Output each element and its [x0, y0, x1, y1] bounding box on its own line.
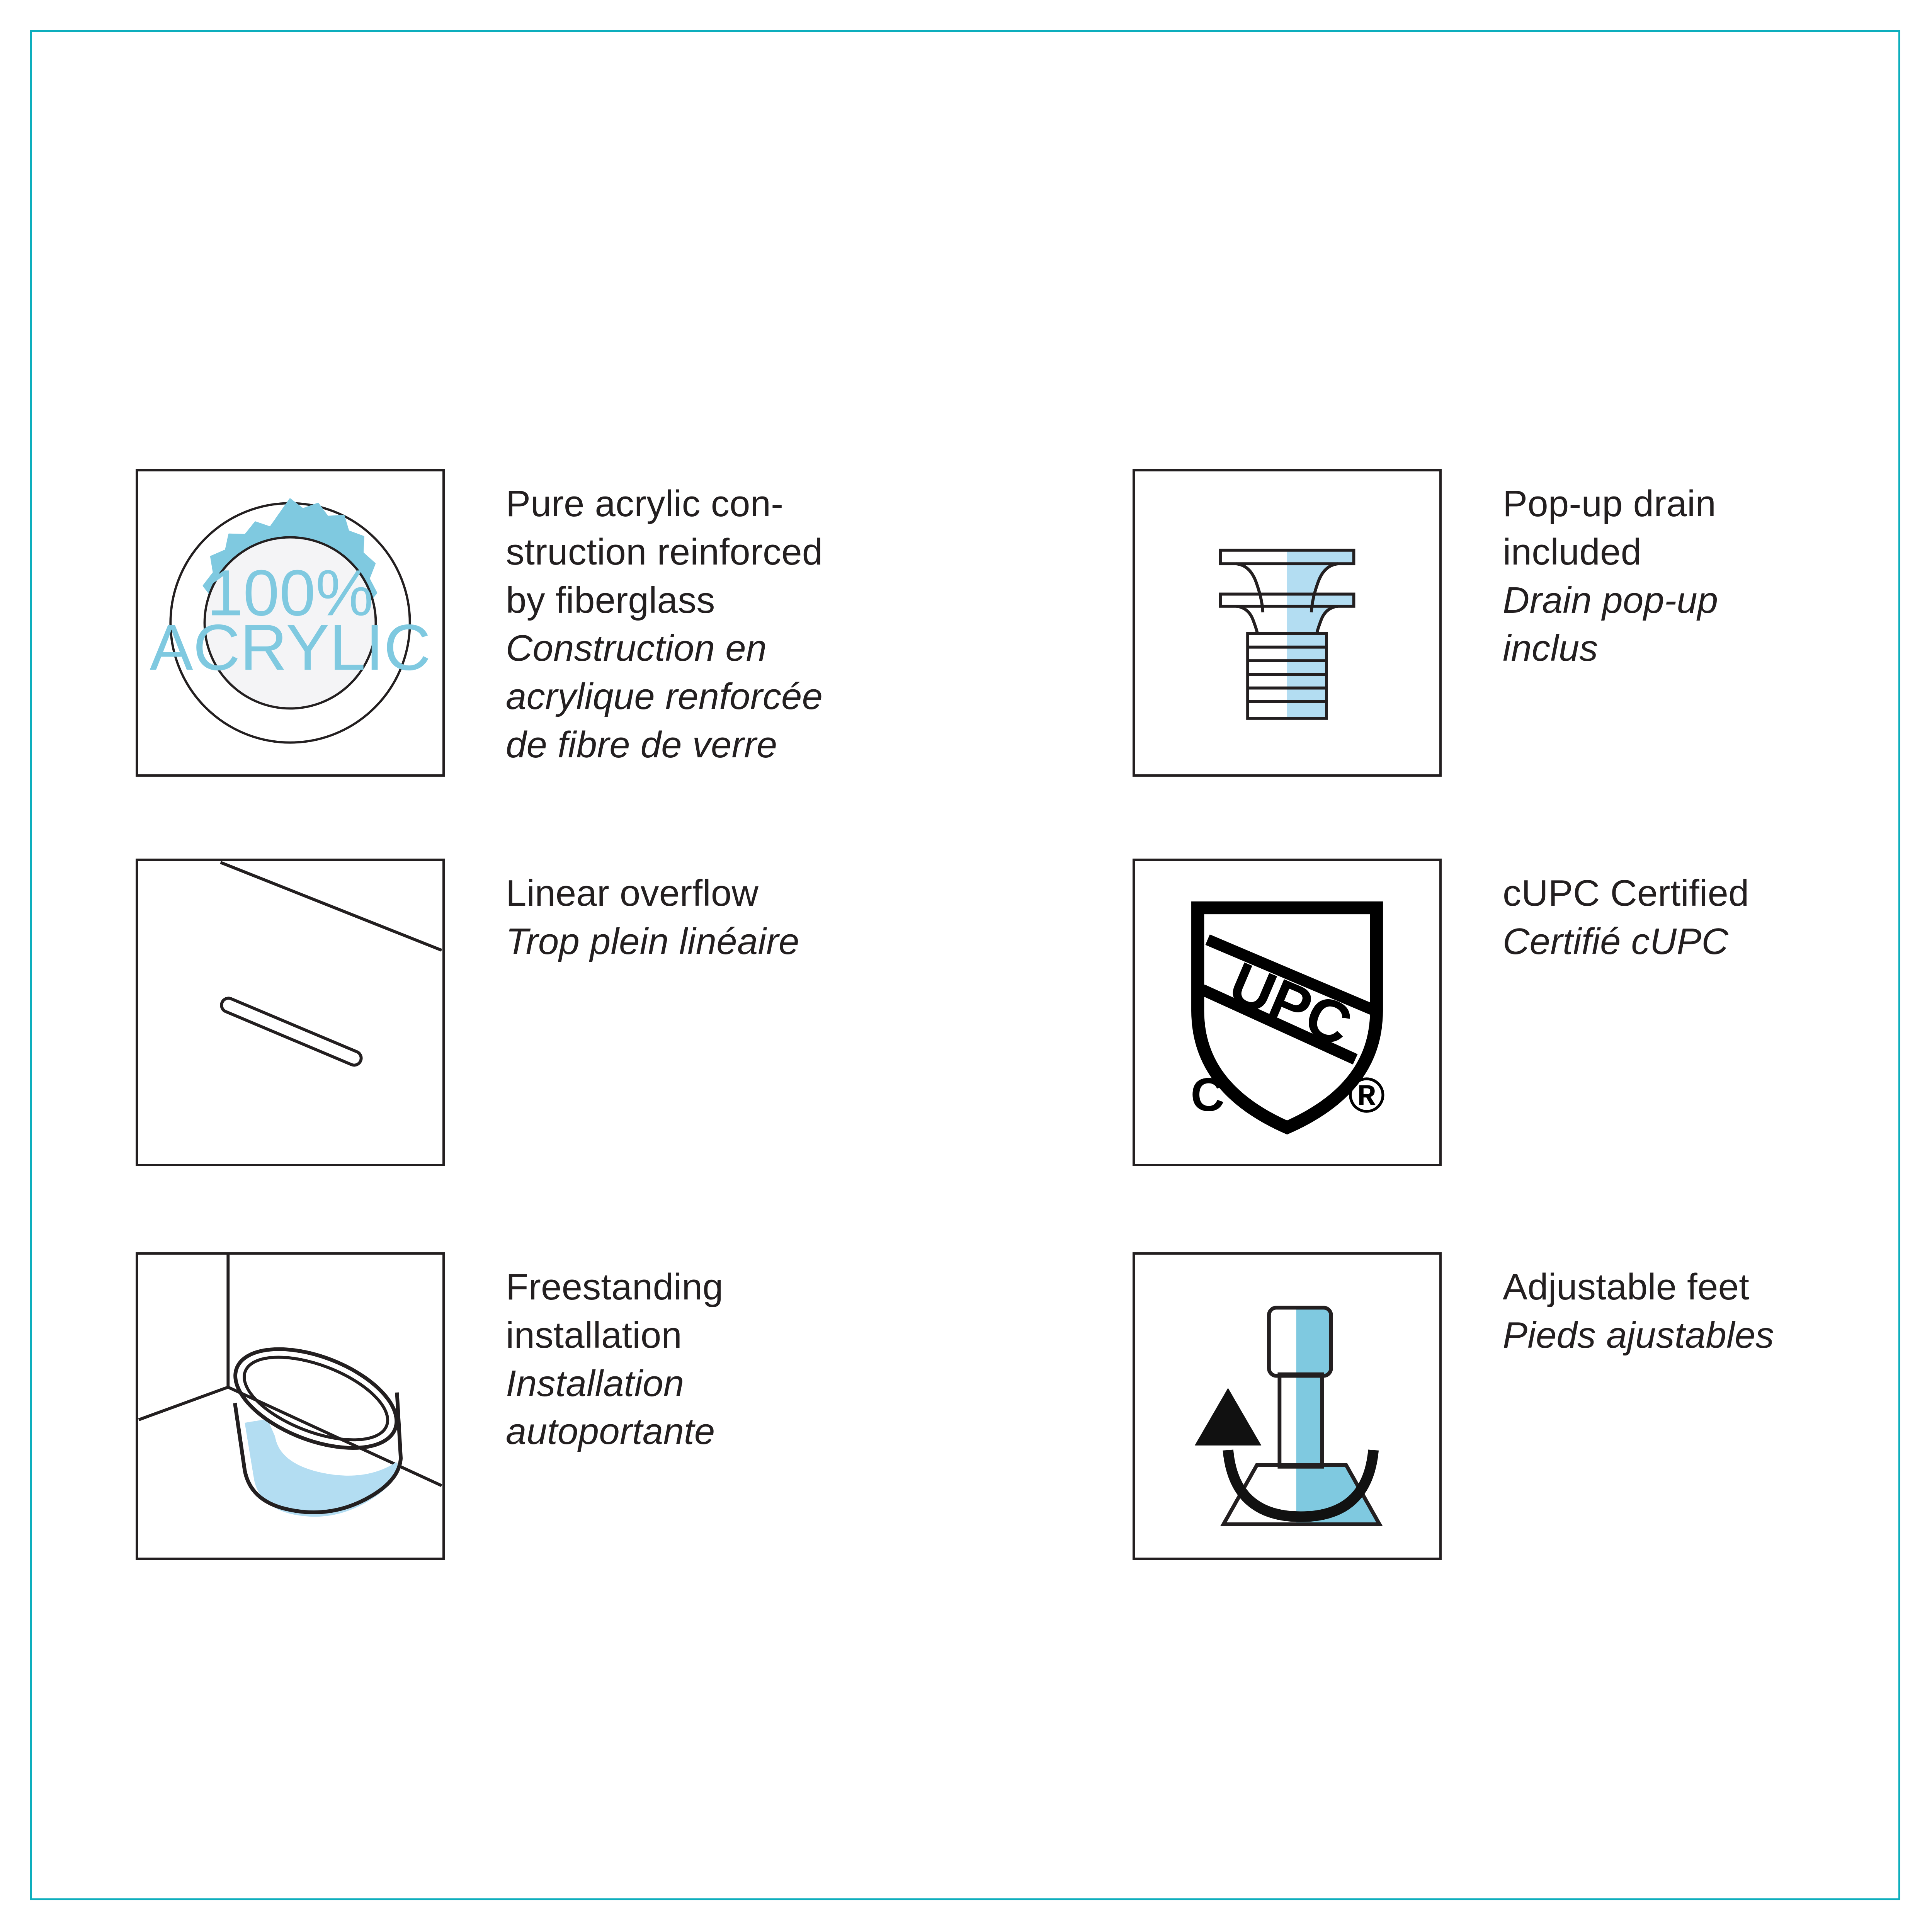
feature-text-freestanding: Freestanding installation Installation a…: [506, 1252, 1133, 1456]
feature-label-fr: Trop plein linéaire: [506, 918, 1133, 966]
feature-label-en: Adjustable feet: [1503, 1263, 1844, 1311]
feature-item-adjustable-feet: Adjustable feet Pieds ajustables: [1133, 1252, 1844, 1560]
feature-item-freestanding: Freestanding installation Installation a…: [136, 1252, 1133, 1560]
feature-label-en: Pop-up drain included: [1503, 480, 1844, 577]
feature-item-pop-up-drain: Pop-up drain included Drain pop-up inclu…: [1133, 469, 1844, 777]
feature-text-linear-overflow: Linear overflow Trop plein linéaire: [506, 859, 1133, 966]
freestanding-tub-icon: [136, 1252, 445, 1560]
adjustable-feet-icon: [1133, 1252, 1442, 1560]
pop-up-drain-icon: [1133, 469, 1442, 777]
feature-item-linear-overflow: Linear overflow Trop plein linéaire: [136, 859, 1133, 1166]
row-spacer: [136, 777, 1844, 859]
feature-label-fr: Certifié cUPC: [1503, 918, 1844, 966]
feature-row: Linear overflow Trop plein linéaire UPC …: [136, 859, 1844, 1166]
feature-row: 100% ACRYLIC Pure acrylic con- struction…: [136, 469, 1844, 777]
feature-label-en: Freestanding installation: [506, 1263, 1133, 1360]
linear-overflow-icon: [136, 859, 445, 1166]
acrylic-badge-icon: 100% ACRYLIC: [136, 469, 445, 777]
feature-item-pure-acrylic: 100% ACRYLIC Pure acrylic con- struction…: [136, 469, 1133, 777]
svg-text:ACRYLIC: ACRYLIC: [150, 611, 431, 684]
feature-text-adjustable-feet: Adjustable feet Pieds ajustables: [1503, 1252, 1844, 1360]
feature-item-cupc-certified: UPC C ® cUPC Certified Certifié cUPC: [1133, 859, 1844, 1166]
feature-text-pure-acrylic: Pure acrylic con- struction reinforced b…: [506, 469, 1133, 769]
page-border-frame: 100% ACRYLIC Pure acrylic con- struction…: [30, 30, 1900, 1900]
feature-label-fr: Drain pop-up inclus: [1503, 577, 1844, 673]
feature-text-cupc-certified: cUPC Certified Certifié cUPC: [1503, 859, 1844, 966]
feature-grid: 100% ACRYLIC Pure acrylic con- struction…: [136, 469, 1844, 1560]
feature-label-en: Pure acrylic con- struction reinforced b…: [506, 480, 1133, 624]
row-spacer: [136, 1166, 1844, 1252]
feature-row: Freestanding installation Installation a…: [136, 1252, 1844, 1560]
feature-label-en: Linear overflow: [506, 869, 1133, 918]
cupc-shield-icon: UPC C ®: [1133, 859, 1442, 1166]
upc-band-text: UPC: [1220, 950, 1361, 1059]
feature-text-pop-up-drain: Pop-up drain included Drain pop-up inclu…: [1503, 469, 1844, 673]
feature-label-fr: Construction en acrylique renforcée de f…: [506, 624, 1133, 769]
feature-label-fr: Pieds ajustables: [1503, 1311, 1844, 1360]
cupc-left-c: C: [1190, 1068, 1225, 1121]
feature-label-fr: Installation autoportante: [506, 1360, 1133, 1456]
feature-label-en: cUPC Certified: [1503, 869, 1844, 918]
cupc-registered-mark: ®: [1348, 1068, 1385, 1123]
